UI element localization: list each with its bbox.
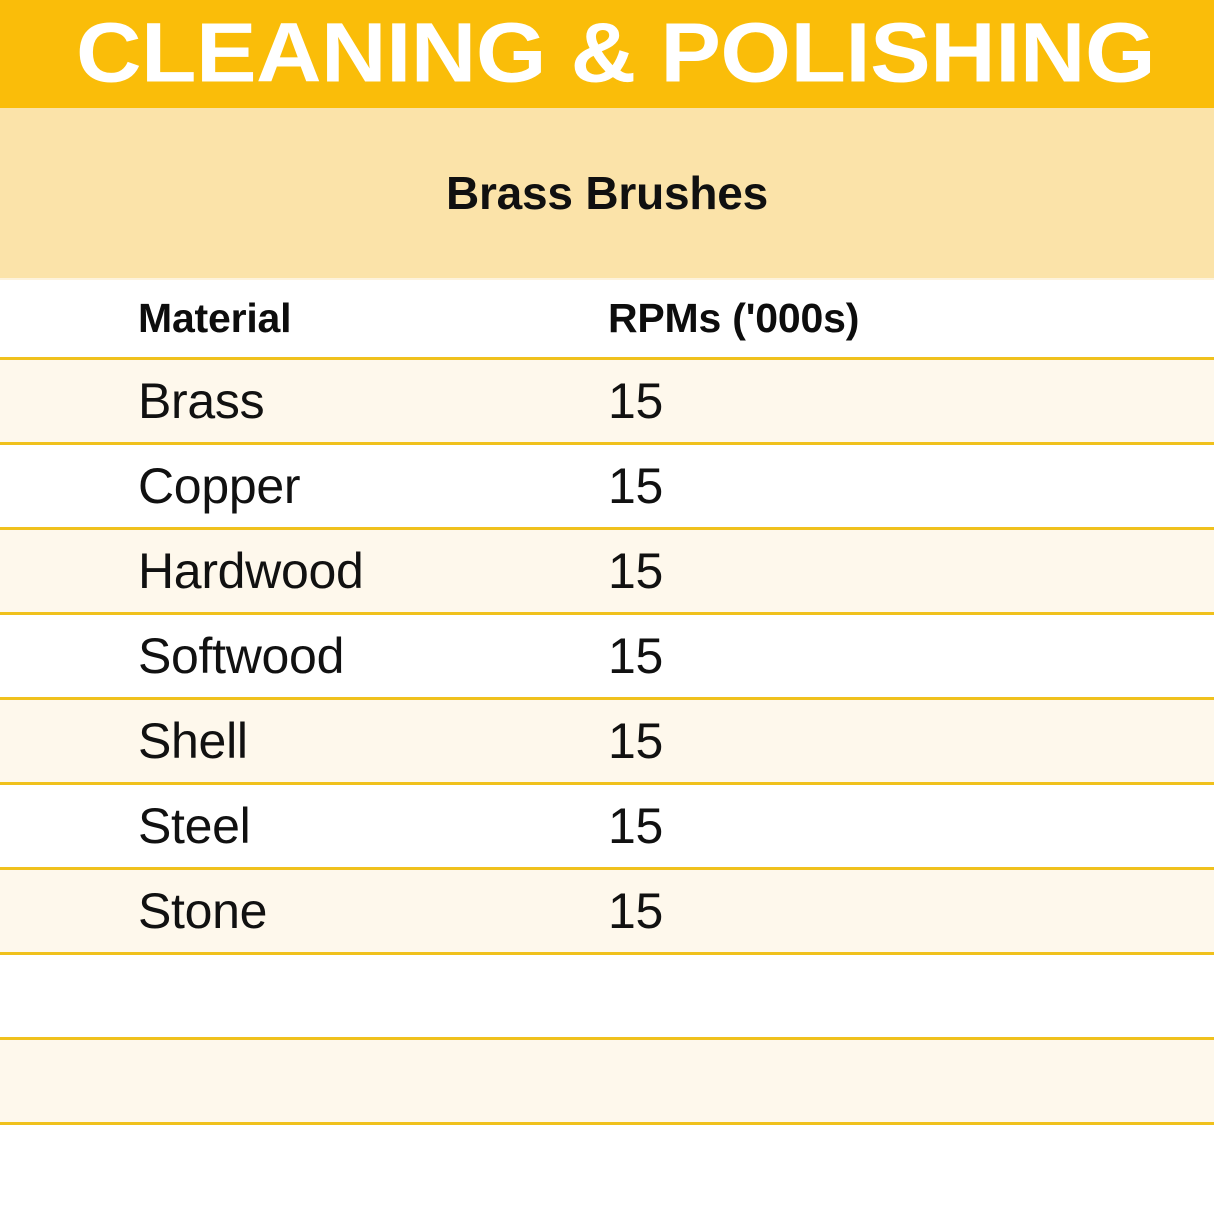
- cell-rpm: 15: [604, 542, 1214, 600]
- cell-material: Hardwood: [0, 542, 604, 600]
- table-row-empty[interactable]: [0, 1040, 1214, 1125]
- cell-rpm: 15: [604, 712, 1214, 770]
- cell-rpm: 15: [604, 457, 1214, 515]
- subtitle-band: Brass Brushes: [0, 108, 1214, 278]
- cell-rpm: 15: [604, 372, 1214, 430]
- page-title: Brass Brushes: [0, 166, 1214, 220]
- table-row[interactable]: Shell 15: [0, 700, 1214, 785]
- cell-material: Copper: [0, 457, 604, 515]
- section-banner: CLEANING & POLISHING: [0, 0, 1214, 108]
- cell-material: Brass: [0, 372, 604, 430]
- cell-material: Steel: [0, 797, 604, 855]
- table-row[interactable]: Steel 15: [0, 785, 1214, 870]
- cell-material: Stone: [0, 882, 604, 940]
- table-row[interactable]: Copper 15: [0, 445, 1214, 530]
- speeds-table: Material RPMs ('000s) Brass 15 Copper 15…: [0, 278, 1214, 1214]
- table-row[interactable]: Hardwood 15: [0, 530, 1214, 615]
- table-header-row: Material RPMs ('000s): [0, 278, 1214, 360]
- speed-chart-card: CLEANING & POLISHING Brass Brushes Mater…: [0, 0, 1214, 1214]
- column-header-rpm: RPMs ('000s): [604, 295, 1214, 342]
- table-row[interactable]: Stone 15: [0, 870, 1214, 955]
- cell-rpm: 15: [604, 627, 1214, 685]
- table-row[interactable]: Softwood 15: [0, 615, 1214, 700]
- cell-rpm: 15: [604, 882, 1214, 940]
- table-row-empty[interactable]: [0, 955, 1214, 1040]
- cell-material: Softwood: [0, 627, 604, 685]
- column-header-material: Material: [0, 295, 604, 342]
- table-row[interactable]: Brass 15: [0, 360, 1214, 445]
- cell-material: Shell: [0, 712, 604, 770]
- section-title: CLEANING & POLISHING: [76, 9, 1155, 95]
- cell-rpm: 15: [604, 797, 1214, 855]
